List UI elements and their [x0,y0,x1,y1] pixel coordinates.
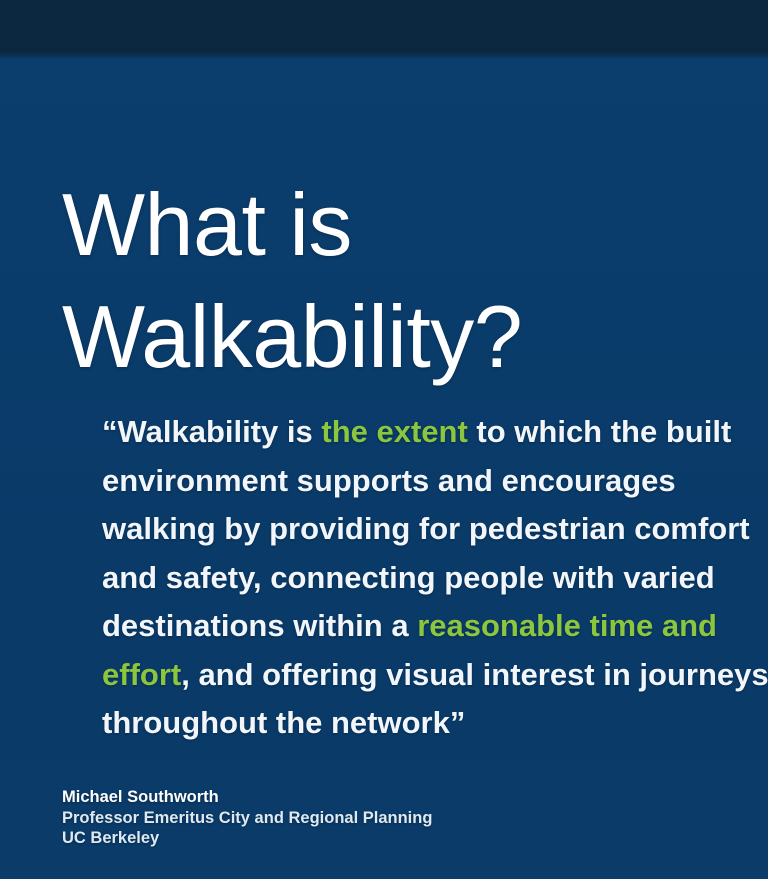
quote-attribution: Michael Southworth Professor Emeritus Ci… [62,787,702,849]
quote-text-segment-1: Walkability is [118,414,322,449]
slide-title: What is Walkability? [62,169,722,393]
top-letterbox-band [0,0,768,58]
quote-text-segment-3: , and offering visual interest in journe… [102,657,768,741]
quote-highlight-the-extent: the extent [321,414,467,449]
attribution-author-name: Michael Southworth [62,787,702,808]
presentation-slide: What is Walkability? “Walkability is the… [0,0,768,879]
attribution-author-organization: UC Berkeley [62,828,702,849]
walkability-definition-quote: “Walkability is the extent to which the … [102,408,768,748]
quote-close-mark: ” [450,705,466,740]
attribution-author-role: Professor Emeritus City and Regional Pla… [62,808,702,829]
quote-open-mark: “ [102,414,118,449]
